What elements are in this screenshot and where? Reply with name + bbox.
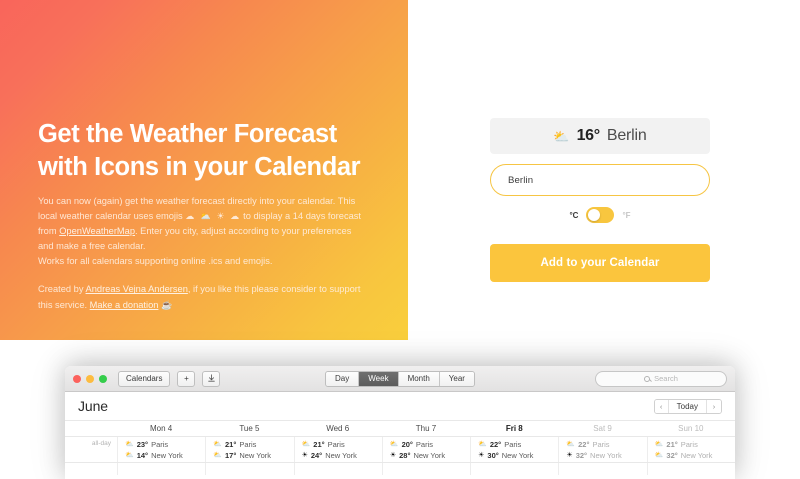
readout-city: Berlin — [607, 127, 647, 145]
timed-cell-sun-10[interactable] — [647, 463, 735, 475]
day-header-sat-9[interactable]: Sat 9 — [558, 421, 646, 436]
day-header-mon-4[interactable]: Mon 4 — [117, 421, 205, 436]
events-column-fri-8: ⛅22°Paris☀30°New York — [470, 437, 558, 462]
search-input[interactable]: Search — [595, 371, 727, 387]
event-city: New York — [590, 450, 622, 461]
calendar-event[interactable]: ☀24°New York — [302, 450, 382, 461]
view-tab-year[interactable]: Year — [440, 372, 474, 386]
timed-cell-wed-6[interactable] — [294, 463, 382, 475]
event-city: Paris — [504, 439, 521, 450]
day-header-sun-10[interactable]: Sun 10 — [647, 421, 735, 436]
day-header-gutter — [65, 421, 117, 436]
timed-cell-fri-8[interactable] — [470, 463, 558, 475]
weather-icon: ⛅ — [213, 439, 222, 450]
donation-link[interactable]: Make a donation — [90, 300, 159, 310]
hero-credit: Created by Andreas Vejna Andersen, if yo… — [38, 282, 370, 312]
event-city: Paris — [239, 439, 256, 450]
event-city: New York — [413, 450, 445, 461]
timed-cell-mon-4[interactable] — [117, 463, 205, 475]
day-header-thu-7[interactable]: Thu 7 — [382, 421, 470, 436]
event-city: Paris — [151, 439, 168, 450]
prev-period-button[interactable]: ‹ — [655, 400, 669, 413]
month-label: June — [78, 398, 108, 414]
weather-emoji-set: ☁ ⛅ ☀ ☁ — [185, 211, 240, 221]
event-temperature: 30° — [487, 450, 498, 461]
today-button[interactable]: Today — [669, 400, 707, 413]
weather-icon: ☀ — [390, 450, 396, 461]
window-controls — [73, 375, 107, 383]
weather-icon: ⛅ — [390, 439, 399, 450]
event-city: Paris — [416, 439, 433, 450]
calendar-event[interactable]: ⛅14°New York — [125, 450, 205, 461]
event-city: New York — [151, 450, 183, 461]
event-temperature: 20° — [402, 439, 413, 450]
calendar-event[interactable]: ⛅21°Paris — [655, 439, 735, 450]
event-city: Paris — [328, 439, 345, 450]
weather-icon: ☀ — [566, 450, 572, 461]
calendar-event[interactable]: ☀32°New York — [566, 450, 646, 461]
weather-icon: ☀ — [302, 450, 308, 461]
weather-icon: ⛅ — [566, 439, 575, 450]
weather-icon: ⛅ — [213, 450, 222, 461]
day-header-fri-8[interactable]: Fri 8 — [470, 421, 558, 436]
readout-temperature: 16° — [577, 127, 600, 145]
event-temperature: 21° — [225, 439, 236, 450]
events-column-mon-4: ⛅23°Paris⛅14°New York — [117, 437, 205, 462]
hero-description-line-4: and make a free calendar. — [38, 239, 370, 254]
view-tab-month[interactable]: Month — [399, 372, 440, 386]
credit-prefix: Created by — [38, 284, 86, 294]
page-title: Get the Weather Forecast with Icons in y… — [38, 118, 370, 183]
event-temperature: 22° — [490, 439, 501, 450]
view-tab-day[interactable]: Day — [326, 372, 359, 386]
hero-source-trail: . Enter you city, adjust according to yo… — [135, 226, 351, 236]
unit-toggle-switch[interactable] — [586, 207, 614, 223]
event-temperature: 23° — [137, 439, 148, 450]
time-gutter — [65, 463, 117, 475]
view-segmented-control[interactable]: DayWeekMonthYear — [325, 371, 475, 387]
search-placeholder: Search — [654, 374, 678, 383]
event-city: New York — [502, 450, 534, 461]
add-to-calendar-button[interactable]: Add to your Calendar — [490, 244, 710, 282]
weather-icon: ☀ — [478, 450, 484, 461]
event-temperature: 17° — [225, 450, 236, 461]
page-root: Get the Weather Forecast with Icons in y… — [0, 0, 800, 479]
hero-emoji-lead-text: local weather calendar uses emojis — [38, 211, 183, 221]
event-city: New York — [325, 450, 357, 461]
unit-label-celsius[interactable]: °C — [569, 211, 578, 220]
hero-description-line-2: local weather calendar uses emojis ☁ ⛅ ☀… — [38, 209, 370, 224]
calendar-event[interactable]: ⛅20°Paris — [390, 439, 470, 450]
search-icon — [644, 376, 650, 382]
calendar-event[interactable]: ⛅32°New York — [655, 450, 735, 461]
calendar-event[interactable]: ☀28°New York — [390, 450, 470, 461]
next-period-button[interactable]: › — [707, 400, 721, 413]
hero-content: Get the Weather Forecast with Icons in y… — [38, 118, 370, 313]
download-icon[interactable] — [202, 371, 220, 387]
calendar-event[interactable]: ⛅23°Paris — [125, 439, 205, 450]
day-header-row: Mon 4Tue 5Wed 6Thu 7Fri 8Sat 9Sun 10 — [65, 420, 735, 437]
maximize-icon[interactable] — [99, 375, 107, 383]
forecast-form: ⛅ 16° Berlin Berlin °C °F Add to your Ca… — [490, 118, 710, 282]
calendar-event[interactable]: ☀30°New York — [478, 450, 558, 461]
events-column-wed-6: ⛅21°Paris☀24°New York — [294, 437, 382, 462]
coffee-icon: ☕ — [161, 300, 174, 310]
calendar-header: June ‹ Today › — [65, 392, 735, 420]
events-column-tue-5: ⛅21°Paris⛅17°New York — [205, 437, 293, 462]
calendars-button[interactable]: Calendars — [118, 371, 170, 387]
event-city: Paris — [681, 439, 698, 450]
all-day-label: all-day — [65, 437, 117, 462]
city-input[interactable]: Berlin — [490, 164, 710, 196]
unit-label-fahrenheit[interactable]: °F — [622, 211, 630, 220]
hero-title-line-2: with Icons in your Calendar — [38, 153, 360, 181]
event-temperature: 21° — [313, 439, 324, 450]
all-day-events-row: all-day ⛅23°Paris⛅14°New York⛅21°Paris⛅1… — [65, 437, 735, 463]
sun-behind-cloud-icon: ⛅ — [553, 130, 569, 143]
day-header-tue-5[interactable]: Tue 5 — [205, 421, 293, 436]
city-input-value: Berlin — [508, 175, 533, 186]
weather-icon: ⛅ — [655, 439, 664, 450]
weather-icon: ⛅ — [302, 439, 311, 450]
openweathermap-link[interactable]: OpenWeatherMap — [59, 226, 135, 236]
event-city: New York — [681, 450, 713, 461]
event-temperature: 24° — [311, 450, 322, 461]
day-header-wed-6[interactable]: Wed 6 — [294, 421, 382, 436]
calendar-event[interactable]: ⛅17°New York — [213, 450, 293, 461]
hero-gradient-panel: Get the Weather Forecast with Icons in y… — [0, 0, 408, 340]
event-temperature: 32° — [666, 450, 677, 461]
weather-readout: ⛅ 16° Berlin — [490, 118, 710, 154]
event-temperature: 21° — [666, 439, 677, 450]
event-city: New York — [239, 450, 271, 461]
timed-cell-thu-7[interactable] — [382, 463, 470, 475]
hero-description-line-5: Works for all calendars supporting onlin… — [38, 254, 370, 269]
hero-description: You can now (again) get the weather fore… — [38, 194, 370, 269]
timed-cell-tue-5[interactable] — [205, 463, 293, 475]
hero-title-line-1: Get the Weather Forecast — [38, 120, 337, 148]
event-temperature: 14° — [137, 450, 148, 461]
toggle-knob — [588, 209, 600, 221]
minimize-icon[interactable] — [86, 375, 94, 383]
events-column-thu-7: ⛅20°Paris☀28°New York — [382, 437, 470, 462]
calendar-event[interactable]: ⛅22°Paris — [566, 439, 646, 450]
event-temperature: 28° — [399, 450, 410, 461]
events-column-sun-10: ⛅21°Paris⛅32°New York — [647, 437, 735, 462]
calendar-event[interactable]: ⛅21°Paris — [302, 439, 382, 450]
unit-toggle-row: °C °F — [490, 207, 710, 223]
weather-icon: ⛅ — [655, 450, 664, 461]
event-city: Paris — [592, 439, 609, 450]
view-tab-week[interactable]: Week — [359, 372, 398, 386]
date-navigation: ‹ Today › — [654, 399, 722, 414]
hero-source-lead: from — [38, 226, 57, 236]
timed-cell-sat-9[interactable] — [558, 463, 646, 475]
event-temperature: 32° — [576, 450, 587, 461]
close-icon[interactable] — [73, 375, 81, 383]
window-titlebar: Calendars + DayWeekMonthYear Search — [65, 366, 735, 392]
hero-description-line-3: from OpenWeatherMap. Enter you city, adj… — [38, 224, 370, 239]
timed-events-strip — [65, 463, 735, 475]
add-event-button[interactable]: + — [177, 371, 195, 387]
events-column-sat-9: ⛅22°Paris☀32°New York — [558, 437, 646, 462]
calendar-event[interactable]: ⛅22°Paris — [478, 439, 558, 450]
weather-icon: ⛅ — [125, 450, 134, 461]
weather-icon: ⛅ — [478, 439, 487, 450]
hero-emoji-trail-text: to display a 14 days forecast — [243, 211, 361, 221]
calendar-event[interactable]: ⛅21°Paris — [213, 439, 293, 450]
hero-description-line-1: You can now (again) get the weather fore… — [38, 194, 370, 209]
weather-icon: ⛅ — [125, 439, 134, 450]
author-link[interactable]: Andreas Vejna Andersen — [86, 284, 188, 294]
event-temperature: 22° — [578, 439, 589, 450]
calendar-window: Calendars + DayWeekMonthYear Search June… — [65, 366, 735, 479]
